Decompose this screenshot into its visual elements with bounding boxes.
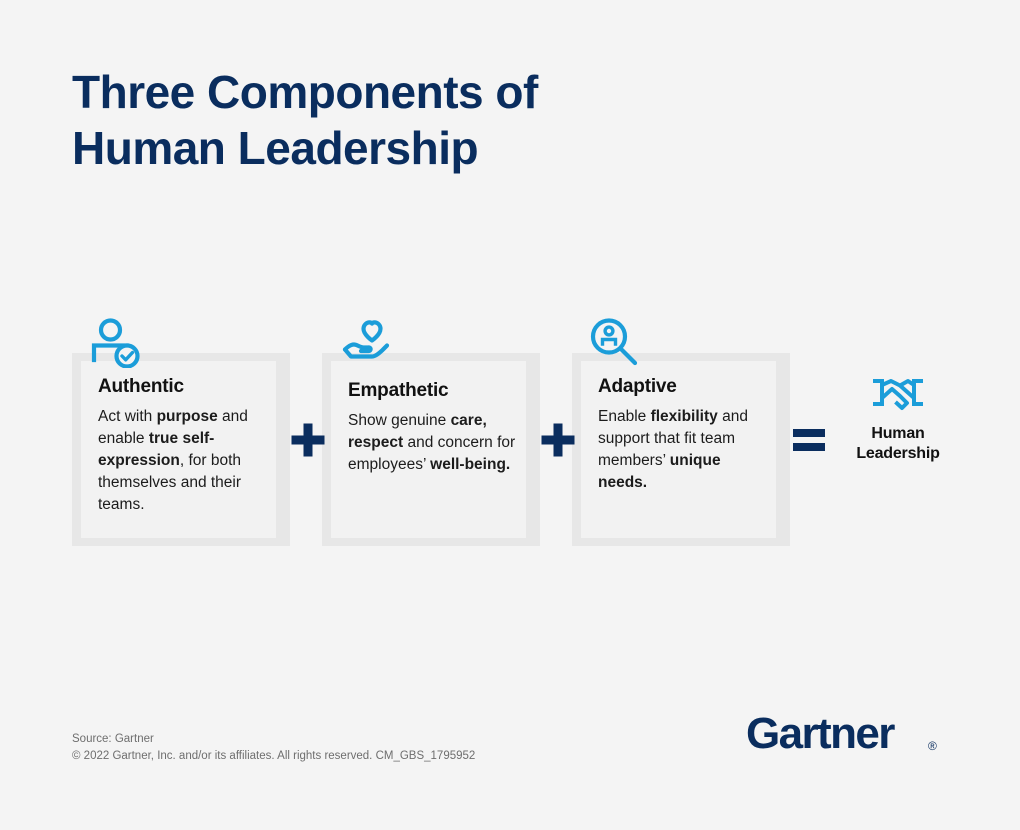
component-card-authentic: Authentic Act with purpose and enable tr… bbox=[72, 318, 290, 558]
card-heading: Adaptive bbox=[598, 376, 677, 398]
component-card-adaptive: Adaptive Enable flexibility and support … bbox=[572, 318, 790, 558]
result-human-leadership: Human Leadership bbox=[840, 376, 956, 464]
component-card-empathetic: Empathetic Show genuine care, respect an… bbox=[322, 318, 540, 558]
equals-icon bbox=[793, 428, 825, 452]
plus-icon bbox=[290, 422, 326, 458]
footer-copyright-line: © 2022 Gartner, Inc. and/or its affiliat… bbox=[72, 748, 475, 765]
plus-icon bbox=[540, 422, 576, 458]
page-title-line-2: Human Leadership bbox=[72, 120, 692, 176]
card-body: Show genuine care, respect and concern f… bbox=[348, 410, 516, 476]
card-heading: Authentic bbox=[98, 376, 184, 398]
components-row: Authentic Act with purpose and enable tr… bbox=[0, 318, 1020, 558]
page-title-line-1: Three Components of bbox=[72, 64, 692, 120]
result-label-line-1: Human bbox=[871, 425, 924, 442]
person-check-icon bbox=[89, 318, 145, 368]
card-body: Enable flexibility and support that fit … bbox=[598, 406, 766, 494]
gartner-logo: Gartner ® bbox=[746, 710, 950, 760]
card-body: Act with purpose and enable true self-ex… bbox=[98, 406, 266, 516]
gartner-logo-trademark: ® bbox=[928, 739, 937, 753]
result-label-line-2: Leadership bbox=[856, 445, 939, 462]
gartner-logo-text: Gartner bbox=[746, 710, 895, 758]
footer-source-line: Source: Gartner bbox=[72, 731, 475, 748]
handshake-icon bbox=[870, 376, 926, 416]
footer-attribution: Source: Gartner © 2022 Gartner, Inc. and… bbox=[72, 731, 475, 765]
result-label: Human Leadership bbox=[840, 424, 956, 464]
card-heading: Empathetic bbox=[348, 380, 448, 402]
hand-heart-icon bbox=[339, 318, 395, 368]
page-title: Three Components of Human Leadership bbox=[72, 64, 692, 176]
magnifier-person-icon bbox=[589, 318, 645, 368]
